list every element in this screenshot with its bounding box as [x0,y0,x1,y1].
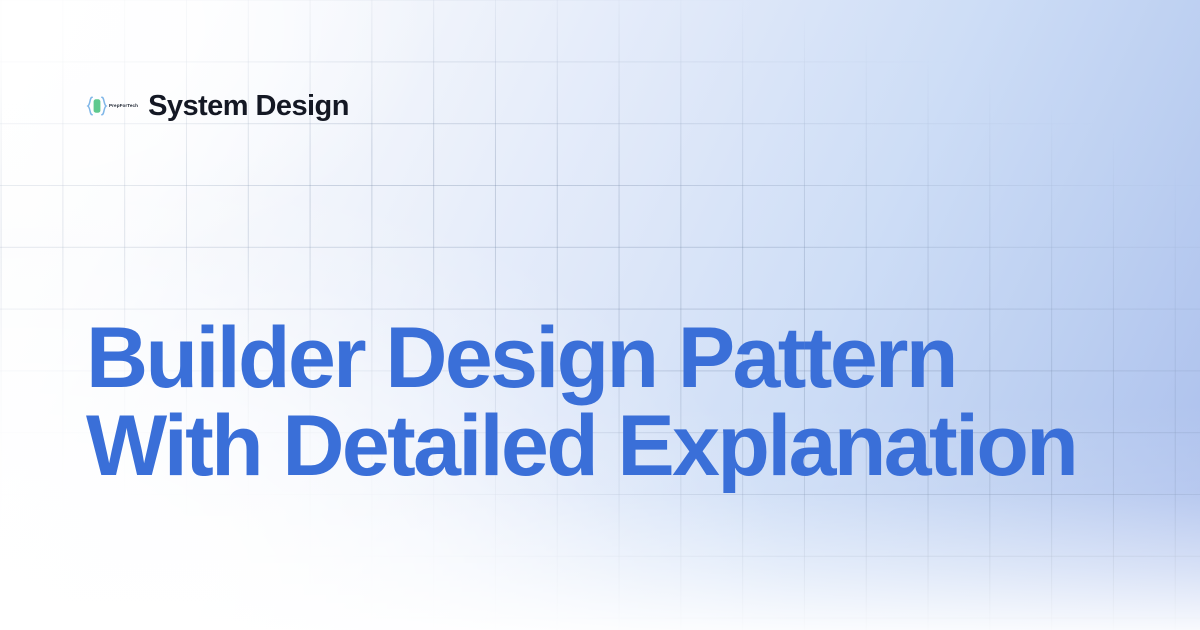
logo: PrepForTech [86,94,138,118]
og-card-canvas: PrepForTech System Design Builder Design… [0,0,1200,630]
page-title: Builder Design Pattern With Detailed Exp… [86,314,1126,490]
logo-wordmark: PrepForTech [109,104,138,109]
category-eyebrow: System Design [148,92,349,121]
brand-row: PrepForTech System Design [86,86,349,126]
prepfortech-braces-logo-icon [86,95,108,117]
